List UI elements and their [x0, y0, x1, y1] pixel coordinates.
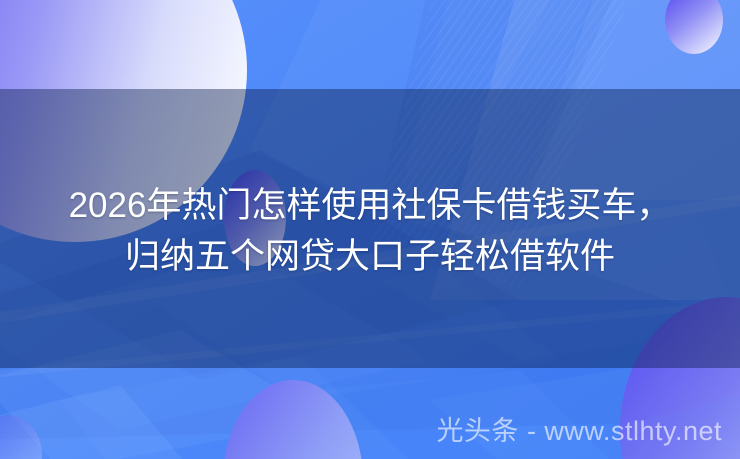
background-graphic [0, 0, 740, 459]
cover-image: 2026年热门怎样使用社保卡借钱买车， 归纳五个网贷大口子轻松借软件 光头条 -… [0, 0, 740, 459]
